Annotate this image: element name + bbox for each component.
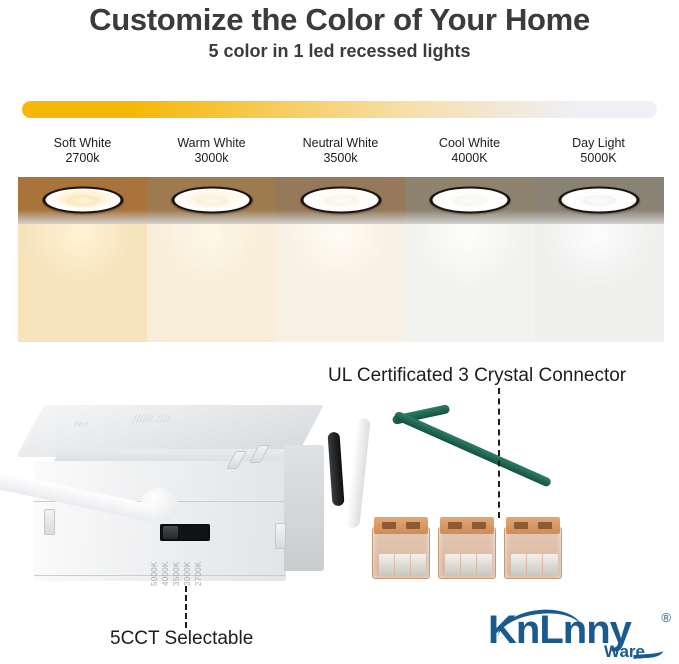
fixture-light-source (66, 195, 100, 206)
cct-label-kelvin: 3000k (147, 151, 276, 166)
cct-label-4: Cool White4000K (405, 136, 534, 168)
black-wire (327, 432, 344, 507)
cct-label-2: Warm White3000k (147, 136, 276, 168)
connector-contact (527, 554, 542, 576)
connector-contact (461, 554, 476, 576)
recessed-light-fixture (559, 187, 640, 214)
cct-label-kelvin: 3500k (276, 151, 405, 166)
cct-label-kelvin: 2700k (18, 151, 147, 166)
cct-scale-label: 2700K (194, 540, 204, 586)
cct-scale-label: 3500K (172, 540, 182, 586)
connector-contact (395, 554, 410, 576)
cct-label-name: Warm White (177, 136, 245, 150)
cct-scale-label: 3000K (183, 540, 193, 586)
crystal-connector (372, 517, 430, 579)
fixture-trim-ring (45, 189, 120, 212)
brand-logo: KnLnny ® Ware (488, 608, 673, 662)
connector-port (514, 522, 528, 529)
crystal-connector (438, 517, 496, 579)
connector-contact (379, 554, 394, 576)
fixture-light-source (195, 195, 229, 206)
cct-switch-knob[interactable] (163, 526, 178, 539)
cct-label-3: Neutral White3500k (276, 136, 405, 168)
connector-port (406, 522, 420, 529)
connector-callout-leader-line (498, 388, 500, 518)
connector-body (504, 527, 562, 579)
cct-scale-label: 4000K (161, 540, 171, 586)
cct-label-kelvin: 4000K (405, 151, 534, 166)
ceiling-surface (406, 177, 535, 224)
connector-contact (511, 554, 526, 576)
light-sample-panel-5 (535, 177, 664, 342)
connector-callout-label: UL Certificated 3 Crystal Connector (328, 365, 626, 387)
wall-light-wash (276, 224, 405, 342)
wall-light-wash (147, 224, 276, 342)
fixture-light-source (453, 195, 487, 206)
connector-body (438, 527, 496, 579)
ceiling-surface (535, 177, 664, 224)
cct-label-name: Cool White (439, 136, 500, 150)
recessed-light-fixture (42, 187, 123, 214)
cct-label-5: Day Light5000K (534, 136, 663, 168)
ceiling-surface (276, 177, 405, 224)
connector-cap (440, 517, 494, 534)
registered-trademark-icon: ® (661, 610, 671, 625)
cct-label-kelvin: 5000K (534, 151, 663, 166)
white-wire (346, 418, 370, 529)
cct-scale-label: 5000K (150, 540, 160, 586)
fixture-trim-ring (433, 189, 508, 212)
recessed-light-fixture (430, 187, 511, 214)
connector-contact (543, 554, 558, 576)
cct-selector-switch[interactable] (160, 524, 210, 541)
fixture-light-source (582, 195, 616, 206)
connector-contact (445, 554, 460, 576)
cct-switch-scale: 5000K4000K3500K3000K2700K (150, 540, 222, 586)
logo-underline-icon (633, 645, 664, 659)
junction-box-side-panel (284, 445, 324, 571)
page-subtitle: 5 color in 1 led recessed lights (0, 41, 679, 62)
switch-callout-leader-line (185, 586, 187, 628)
junction-box-embossing-text: |||||| |||| (131, 413, 173, 423)
connector-contact (411, 554, 426, 576)
wall-light-wash (406, 224, 535, 342)
connector-body (372, 527, 430, 579)
connector-port (448, 522, 462, 529)
fixture-trim-ring (174, 189, 249, 212)
recessed-light-fixture (171, 187, 252, 214)
ceiling-surface (18, 177, 147, 224)
light-sample-panel-3 (276, 177, 405, 342)
connector-cap (374, 517, 428, 534)
fixture-trim-ring (304, 189, 379, 212)
fixture-light-source (324, 195, 358, 206)
light-sample-photo-strip (18, 177, 664, 342)
connector-cap (506, 517, 560, 534)
junction-box-tab (44, 509, 55, 535)
connector-port (538, 522, 552, 529)
switch-callout-label: 5CCT Selectable (110, 628, 253, 650)
junction-box-tab (275, 523, 286, 549)
color-temperature-label-row: Soft White2700kWarm White3000kNeutral Wh… (18, 136, 663, 168)
cct-label-name: Neutral White (303, 136, 379, 150)
cct-label-name: Day Light (572, 136, 625, 150)
crystal-connector (504, 517, 562, 579)
page-title: Customize the Color of Your Home (0, 2, 679, 38)
connector-port (382, 522, 396, 529)
recessed-light-fixture (301, 187, 382, 214)
cct-label-name: Soft White (54, 136, 112, 150)
cct-label-1: Soft White2700k (18, 136, 147, 168)
wall-light-wash (18, 224, 147, 342)
light-sample-panel-4 (406, 177, 535, 342)
connector-port (472, 522, 486, 529)
wall-light-wash (535, 224, 664, 342)
fixture-trim-ring (562, 189, 637, 212)
light-sample-panel-1 (18, 177, 147, 342)
crystal-connector-group (372, 517, 562, 583)
connector-contact (477, 554, 492, 576)
color-temperature-gradient-bar (22, 101, 657, 118)
ceiling-surface (147, 177, 276, 224)
light-sample-panel-2 (147, 177, 276, 342)
